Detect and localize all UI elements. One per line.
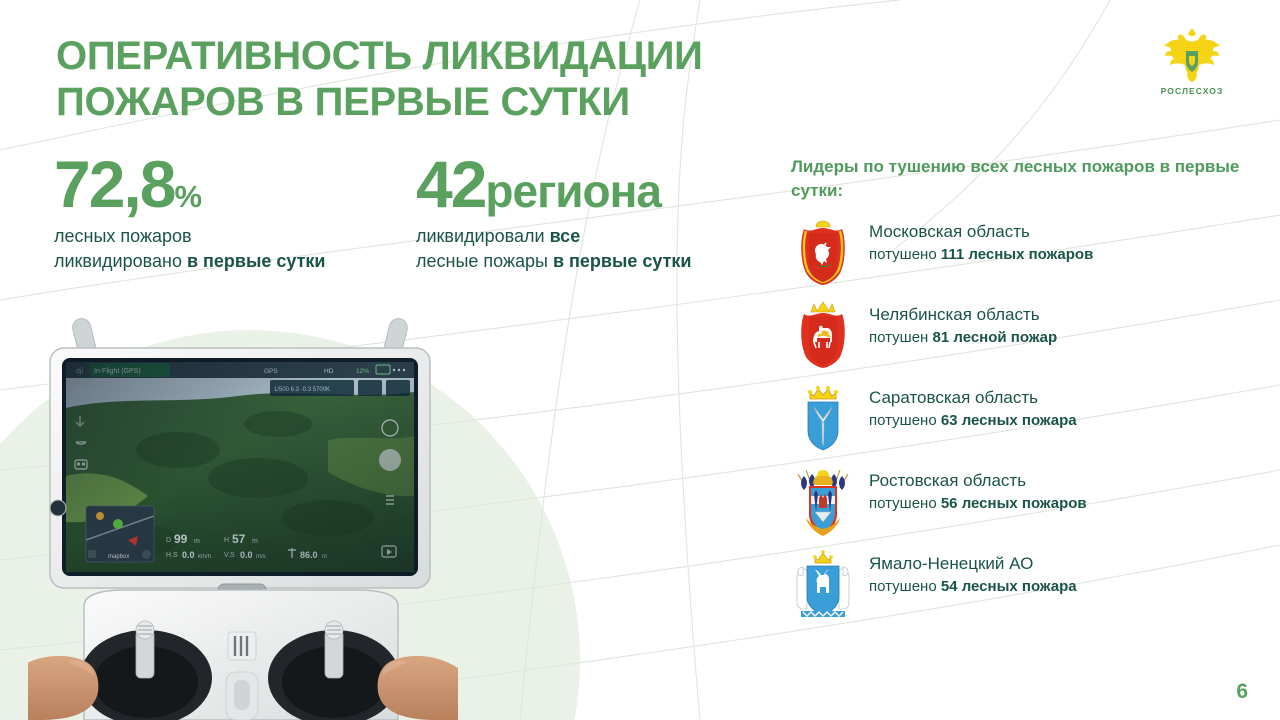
caption-plain: ликвидировано <box>54 251 187 271</box>
leaders-heading: Лидеры по тушению всех лесных пожаров в … <box>791 155 1261 203</box>
leaders-panel: Лидеры по тушению всех лесных пожаров в … <box>791 155 1261 632</box>
detail-plain: потушено <box>869 412 941 429</box>
stat-value-regions: 42региона <box>416 152 692 217</box>
stat-caption-regions: ликвидировали все лесные пожары в первые… <box>416 224 692 275</box>
detail-plain: потушено <box>869 578 941 595</box>
stat-number: 42 <box>416 147 485 221</box>
caption-plain: ликвидировали <box>416 226 550 246</box>
roslesoz-logo: РОСЛЕСХОЗ <box>1136 24 1248 96</box>
rostov-oblast-coat-of-arms-icon <box>791 466 855 538</box>
double-headed-eagle-icon <box>1157 24 1227 84</box>
chelyabinsk-oblast-coat-of-arms-icon <box>791 300 855 370</box>
page-number: 6 <box>1236 680 1248 704</box>
stat-unit: региона <box>485 165 661 217</box>
region-detail: потушено 54 лесных пожара <box>869 577 1077 597</box>
region-detail: потушено 111 лесных пожаров <box>869 245 1093 265</box>
stat-caption-line1: ликвидировали все <box>416 224 692 250</box>
list-item: Челябинская область потушен 81 лесной по… <box>791 300 1261 374</box>
page-title: ОПЕРАТИВНОСТЬ ЛИКВИДАЦИИ ПОЖАРОВ В ПЕРВЫ… <box>56 34 816 125</box>
region-name: Ямало-Ненецкий АО <box>869 553 1077 575</box>
region-detail: потушен 81 лесной пожар <box>869 328 1057 348</box>
detail-plain: потушено <box>869 495 941 512</box>
detail-plain: потушен <box>869 329 933 346</box>
stat-block-percent: 72,8% лесных пожаров ликвидировано в пер… <box>54 152 325 275</box>
region-name: Ростовская область <box>869 470 1087 492</box>
caption-bold: в первые сутки <box>187 251 326 271</box>
stat-caption-line2: лесные пожары в первые сутки <box>416 249 692 275</box>
list-item: Ямало-Ненецкий АО потушено 54 лесных пож… <box>791 549 1261 623</box>
region-name: Московская область <box>869 221 1093 243</box>
region-name: Саратовская область <box>869 387 1077 409</box>
caption-bold: в первые сутки <box>553 251 692 271</box>
logo-text: РОСЛЕСХОЗ <box>1136 86 1248 96</box>
list-item: Саратовская область потушено 63 лесных п… <box>791 383 1261 457</box>
stat-value-percent: 72,8% <box>54 152 325 217</box>
stat-caption-percent: лесных пожаров ликвидировано в первые су… <box>54 224 325 275</box>
detail-bold: 111 лесных пожаров <box>941 246 1093 263</box>
region-detail: потушено 63 лесных пожара <box>869 411 1077 431</box>
stat-caption-line1: лесных пожаров <box>54 224 325 250</box>
saratov-oblast-coat-of-arms-icon <box>791 383 855 453</box>
caption-bold: все <box>550 226 581 246</box>
detail-bold: 81 лесной пожар <box>933 329 1058 346</box>
stat-unit: % <box>174 179 201 214</box>
region-name: Челябинская область <box>869 304 1057 326</box>
stat-block-regions: 42региона ликвидировали все лесные пожар… <box>416 152 692 275</box>
list-item: Московская область потушено 111 лесных п… <box>791 217 1261 291</box>
detail-bold: 63 лесных пожара <box>941 412 1077 429</box>
list-item: Ростовская область потушено 56 лесных по… <box>791 466 1261 540</box>
detail-bold: 54 лесных пожара <box>941 578 1077 595</box>
yamalo-nenets-coat-of-arms-icon <box>791 549 855 621</box>
stat-caption-line2: ликвидировано в первые сутки <box>54 249 325 275</box>
detail-bold: 56 лесных пожаров <box>941 495 1087 512</box>
drone-controller-photo: dji In-Flight (GPS) GPS HD 12% 1/500 6.3… <box>28 300 548 720</box>
detail-plain: потушено <box>869 246 941 263</box>
stat-number: 72,8 <box>54 147 174 221</box>
region-detail: потушено 56 лесных пожаров <box>869 494 1087 514</box>
moscow-oblast-coat-of-arms-icon <box>791 217 855 287</box>
caption-plain: лесные пожары <box>416 251 553 271</box>
